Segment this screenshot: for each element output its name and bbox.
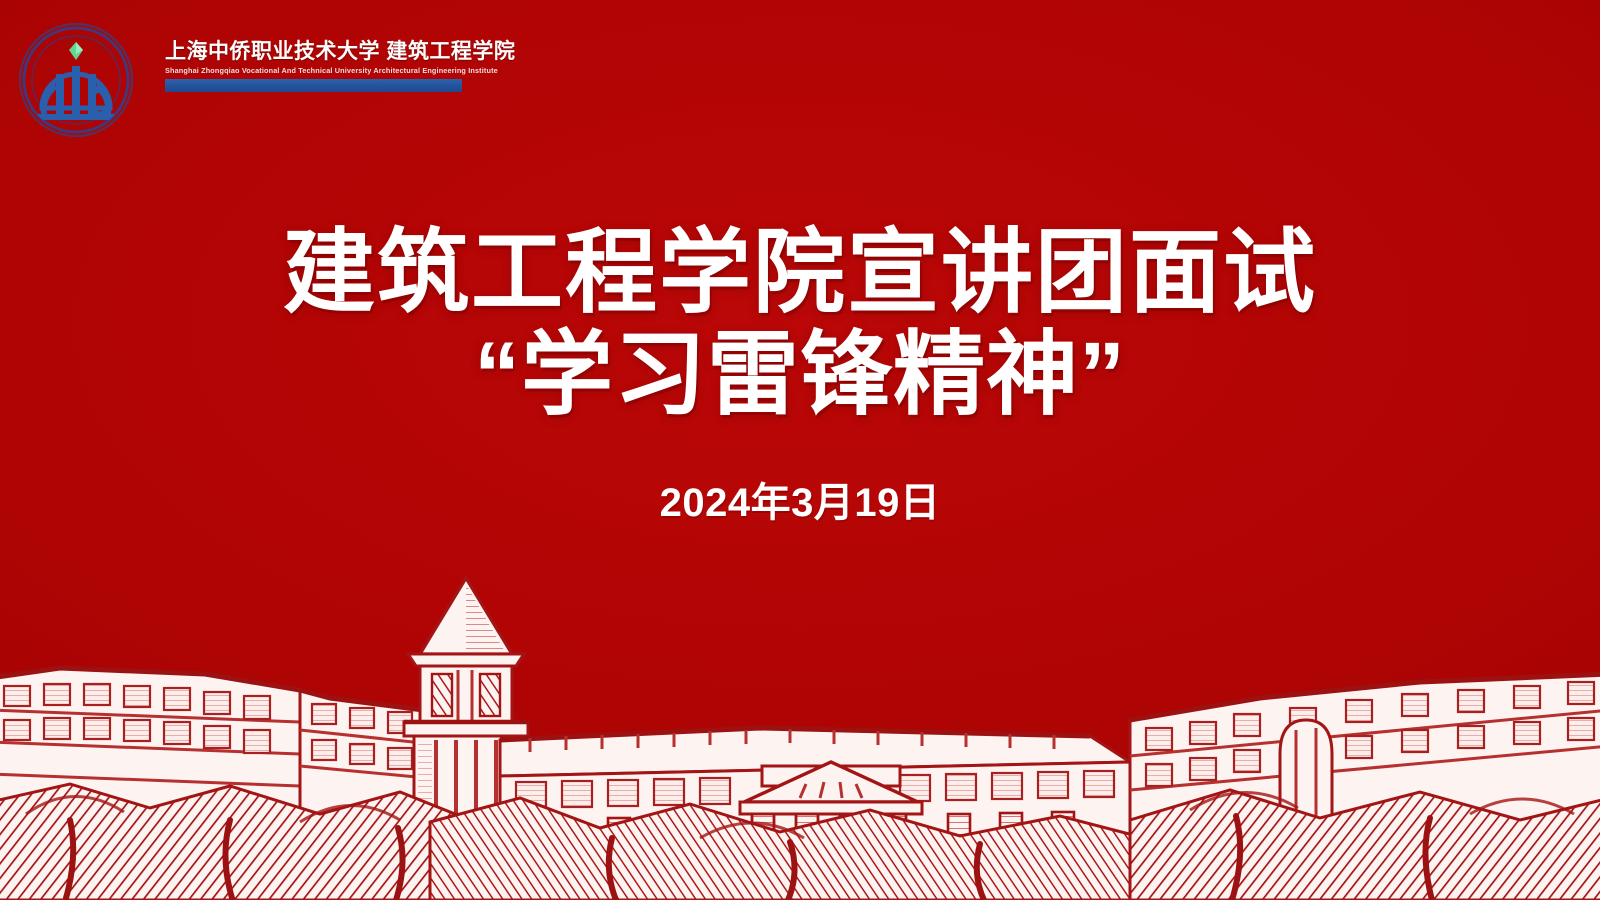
university-seal-emblem-icon: 上海 中侨 1993 (12, 16, 140, 144)
poster-title-line1: 建筑工程学院宣讲团面试 (0, 226, 1600, 322)
svg-text:海: 海 (64, 33, 73, 45)
brand-accent-rule (165, 79, 462, 92)
svg-text:侨: 侨 (98, 41, 107, 53)
poster-canvas: 上海 中侨 1993 上海中侨职业技术大学 建筑工程学院 Shanghai Zh… (0, 0, 1600, 900)
brand-name-english: Shanghai Zhongqiao Vocational And Techni… (165, 66, 461, 75)
svg-text:上: 上 (46, 42, 55, 53)
event-date: 2024年3月19日 (0, 470, 1600, 528)
svg-text:中: 中 (82, 33, 91, 45)
poster-title-line2: “学习雷锋精神” (0, 328, 1600, 424)
brand-name-chinese: 上海中侨职业技术大学 建筑工程学院 (165, 40, 465, 63)
title-group: 建筑工程学院宣讲团面试 “学习雷锋精神” (0, 226, 1600, 423)
header-lockup: 上海 中侨 1993 上海中侨职业技术大学 建筑工程学院 Shanghai Zh… (0, 0, 1600, 150)
brand-block: 上海中侨职业技术大学 建筑工程学院 Shanghai Zhongqiao Voc… (165, 40, 465, 92)
campus-skyline-illustration (0, 570, 1600, 900)
